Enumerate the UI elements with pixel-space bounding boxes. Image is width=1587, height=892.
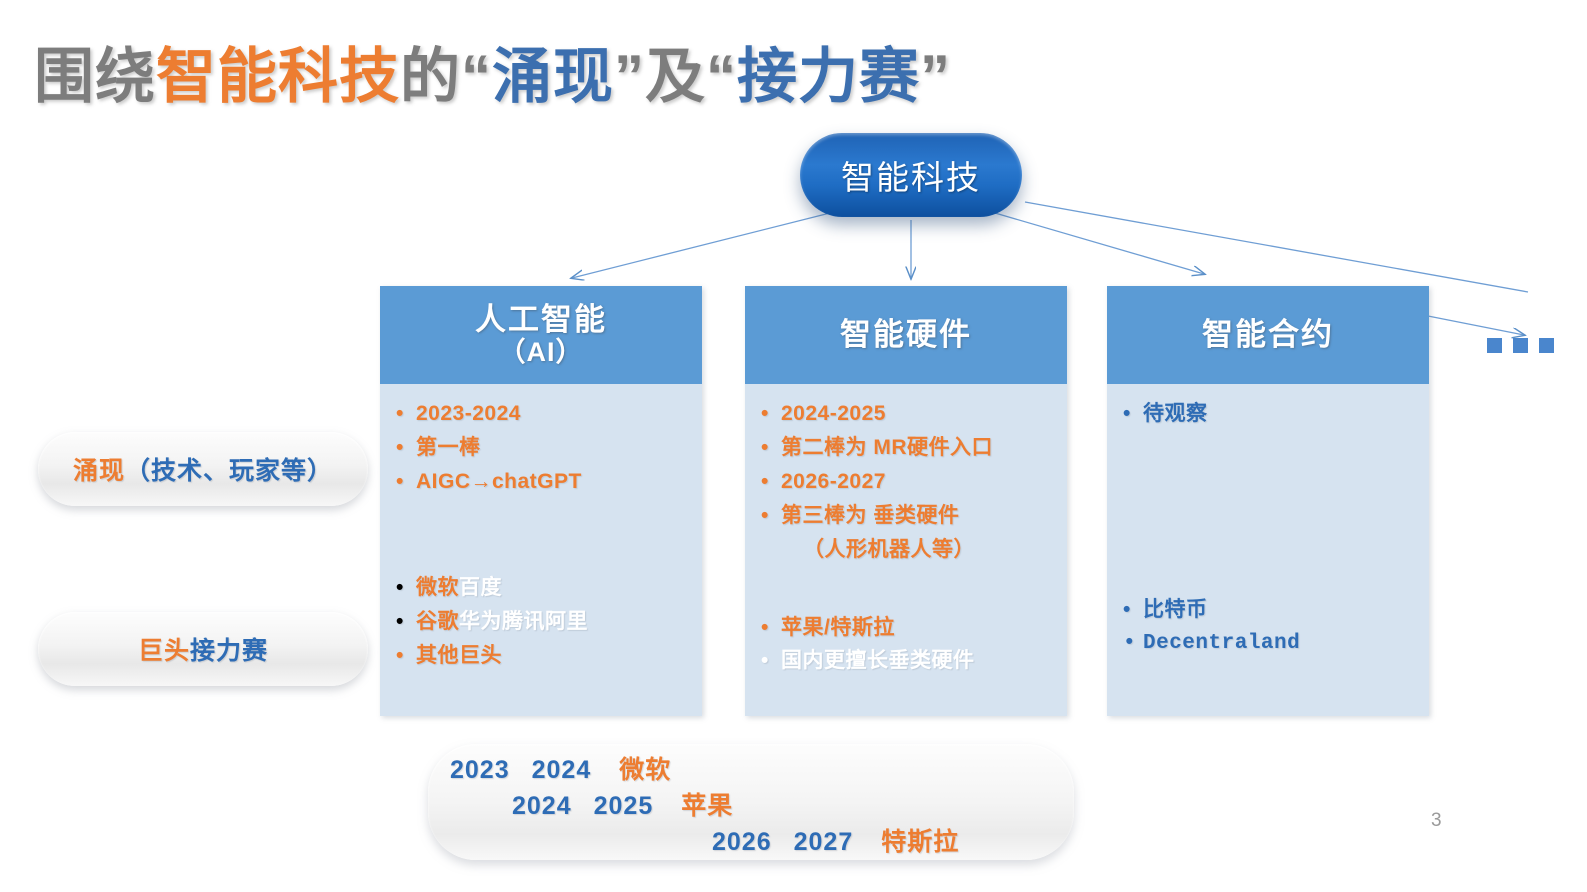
timeline-year: 2025 — [594, 792, 654, 820]
timeline-company: 苹果 — [681, 792, 733, 820]
branch-card-smart-contract[interactable]: 智能合约 待观察 比特币 Decentraland — [1107, 286, 1429, 716]
list-gap — [1121, 504, 1423, 576]
timeline-year: 2024 — [532, 756, 592, 784]
list-item: 第三棒为 垂类硬件 — [759, 500, 1061, 532]
title-part-2: 的“ — [400, 43, 492, 110]
side-label-relay-highlight: 巨头 — [138, 631, 190, 667]
player-name-highlight: 微软 — [416, 576, 459, 599]
timeline-year: 2023 — [450, 756, 510, 784]
list-item: 2024-2025 — [759, 398, 1061, 430]
branch-body-smart-contract: 待观察 比特币 Decentraland — [1107, 384, 1429, 716]
list-item: 苹果/特斯拉 — [759, 612, 1061, 644]
player-name-plain: 百度 — [459, 576, 502, 599]
list-gap — [759, 568, 1061, 612]
branch-body-hardware: 2024-2025 第二棒为 MR硬件入口 2026-2027 第三棒为 垂类硬… — [745, 384, 1067, 716]
title-part-6: ” — [920, 43, 951, 110]
list-item: 国内更擅长垂类硬件 — [759, 645, 1061, 677]
side-label-relay[interactable]: 巨头接力赛 — [38, 612, 368, 686]
title-part-1: 智能科技 — [156, 43, 400, 110]
timeline-year: 2026 — [712, 828, 772, 856]
branch-header-smart-contract: 智能合约 — [1107, 286, 1429, 384]
list-item: 2023-2024 — [394, 398, 696, 430]
title-part-0: 围绕 — [34, 43, 156, 110]
timeline-row: 20232024微软 — [450, 750, 671, 786]
list-item: Decentraland — [1121, 628, 1423, 660]
title-part-5: 接力赛 — [737, 43, 920, 110]
title-part-4: ”及“ — [614, 43, 737, 110]
slide-canvas: 围绕智能科技的“涌现”及“接力赛” 智能科技 人工智能 （AI） 2023-20… — [0, 0, 1587, 892]
timeline-company: 特斯拉 — [881, 828, 959, 856]
side-label-emergence-rest: （技术、玩家等） — [125, 451, 333, 487]
timeline-pill[interactable]: 20232024微软 20242025苹果 20262027特斯拉 — [428, 744, 1074, 860]
more-branches-dots-icon — [1487, 338, 1554, 353]
dot-icon — [1539, 338, 1554, 353]
root-node-label: 智能科技 — [841, 151, 981, 199]
branch-body-ai: 2023-2024 第一棒 AIGC→chatGPT 微软百度 谷歌华为腾讯阿里… — [380, 384, 702, 716]
root-node-intelligent-technology[interactable]: 智能科技 — [800, 133, 1022, 217]
dot-icon — [1487, 338, 1502, 353]
player-name-highlight: 谷歌 — [416, 610, 459, 633]
list-item: 微软百度 — [394, 572, 696, 604]
branch-title-ai: 人工智能 — [475, 303, 607, 338]
branch-title-hardware: 智能硬件 — [840, 318, 972, 353]
timeline-row: 20262027特斯拉 — [712, 822, 959, 858]
timeline-year: 2024 — [512, 792, 572, 820]
timeline-row: 20242025苹果 — [512, 786, 733, 822]
branch-card-hardware[interactable]: 智能硬件 2024-2025 第二棒为 MR硬件入口 2026-2027 第三棒… — [745, 286, 1067, 716]
list-item: 比特币 — [1121, 594, 1423, 626]
list-item: 谷歌华为腾讯阿里 — [394, 606, 696, 638]
list-item: 待观察 — [1121, 398, 1423, 430]
title-part-3: 涌现 — [492, 43, 614, 110]
branch-header-ai: 人工智能 （AI） — [380, 286, 702, 384]
list-item: 第一棒 — [394, 432, 696, 464]
timeline-company: 微软 — [619, 756, 671, 784]
branch-card-ai[interactable]: 人工智能 （AI） 2023-2024 第一棒 AIGC→chatGPT 微软百… — [380, 286, 702, 716]
dot-icon — [1513, 338, 1528, 353]
list-gap — [1121, 576, 1423, 594]
side-label-emergence-highlight: 涌现 — [73, 451, 125, 487]
list-item-continuation: （人形机器人等） — [759, 534, 1061, 566]
branch-header-hardware: 智能硬件 — [745, 286, 1067, 384]
list-gap — [394, 500, 696, 572]
timeline-year: 2027 — [794, 828, 854, 856]
list-item: 其他巨头 — [394, 640, 696, 672]
list-item: 第二棒为 MR硬件入口 — [759, 432, 1061, 464]
list-item: 2026-2027 — [759, 466, 1061, 498]
branch-title-smart-contract: 智能合约 — [1202, 318, 1334, 353]
branch-subtitle-ai: （AI） — [499, 337, 584, 367]
page-number: 3 — [1431, 810, 1442, 832]
list-item: AIGC→chatGPT — [394, 466, 696, 498]
side-label-relay-rest: 接力赛 — [190, 631, 268, 667]
list-gap — [1121, 432, 1423, 504]
player-name-plain: 华为腾讯阿里 — [459, 610, 588, 633]
page-title: 围绕智能科技的“涌现”及“接力赛” — [34, 28, 951, 115]
side-label-emergence[interactable]: 涌现（技术、玩家等） — [38, 432, 368, 506]
